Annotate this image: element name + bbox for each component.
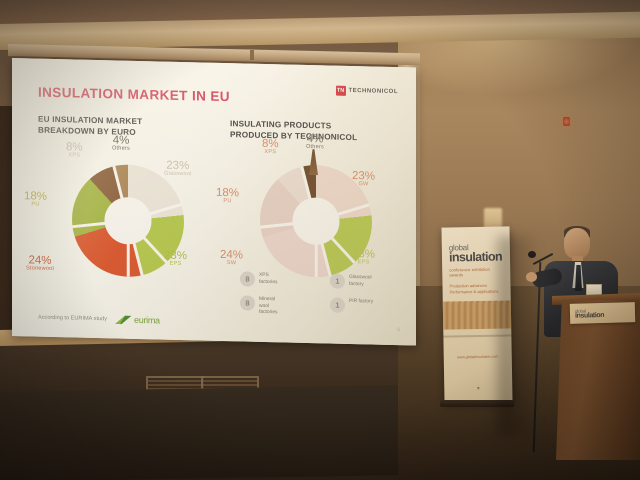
badge-row: 8 Mineralwoolfactories 1 PIR factory [240, 295, 408, 320]
chart-label-stonewool: 24% Stonewool [26, 254, 54, 273]
projection-screen: INSULATION MARKET IN EU TN TECHNONICOL E… [12, 58, 416, 346]
chart-label-eps: 23% EPS [164, 250, 187, 268]
chart-label-eps: 23% EPS [352, 248, 375, 266]
eurima-wordmark: eurima [134, 315, 160, 326]
chart-label-pu: 18% PU [24, 190, 47, 208]
exploded-others-slice [309, 149, 318, 175]
badge-label: XPSfactories [259, 272, 277, 287]
chart-label-xps: 8% XPS [66, 141, 83, 159]
slice-gap [127, 221, 130, 277]
technonicol-wordmark: TECHNONICOL [349, 88, 399, 95]
source-note: According to EURIMA study [38, 315, 107, 323]
slice-gap [113, 166, 129, 221]
factory-count-badges: 8 XPSfactories 1 Glasswoolfactory 8 Mine… [240, 271, 408, 329]
badge-row: 8 XPSfactories 1 Glasswoolfactory [240, 271, 408, 290]
slide-footer: According to EURIMA study eurima [38, 313, 160, 326]
chart-label-sw: 24% SW [220, 249, 243, 267]
slice-gap [316, 204, 370, 222]
slide-page-number: 5 [397, 327, 400, 333]
red-indicator-light [563, 117, 570, 126]
slice-gap [72, 219, 128, 227]
chart-label-others: 4% Others [112, 134, 130, 152]
slide-title: INSULATION MARKET IN EU [38, 85, 230, 105]
wooden-podium [556, 300, 640, 460]
screen-roller-cord [250, 50, 254, 60]
rollup-tagline: conference exhibition awards [449, 267, 503, 278]
slice-gap [315, 221, 318, 277]
slice-gap [128, 203, 182, 221]
chart-label-others: 4% Others [306, 133, 324, 151]
speaker-head [564, 228, 590, 259]
badge-count: 1 [330, 273, 345, 288]
technonicol-mark-icon: TN [336, 86, 346, 96]
badge-glasswool-factory: 1 Glasswoolfactory [330, 273, 406, 290]
chart-label-pu: 18% PU [216, 187, 239, 205]
badge-mineral-wool-factories: 8 Mineralwoolfactories [240, 295, 316, 318]
chart-label-gw: 23% GW [352, 170, 375, 188]
floor-shadow-band [0, 384, 440, 480]
presentation-slide: INSULATION MARKET IN EU TN TECHNONICOL E… [12, 58, 416, 346]
slice-gap [315, 220, 355, 263]
wall-uplight-glow [398, 36, 640, 96]
eurima-mark-icon [115, 315, 132, 324]
slice-gap [260, 220, 316, 228]
speaker-hand [526, 272, 537, 282]
badge-count: 8 [240, 271, 255, 286]
badge-pir-factory: 1 PIR factory [330, 297, 406, 320]
conference-room-photo: INSULATION MARKET IN EU TN TECHNONICOL E… [0, 0, 640, 480]
badge-xps-factories: 8 XPSfactories [240, 271, 316, 288]
badge-label: Glasswoolfactory [349, 274, 372, 289]
eurima-logo: eurima [115, 314, 160, 325]
badge-label: PIR factory [349, 298, 373, 306]
badge-count: 8 [240, 295, 255, 310]
eu-market-donut-chart: 23% Glasswool 23% EPS 24% Stonewool 18% … [72, 163, 184, 278]
podium-sign: global insulation [570, 302, 636, 324]
podium-sign-line2: insulation [575, 311, 635, 320]
right-panel-heading: INSULATING PRODUCTSPRODUCED BY TECHNONIC… [230, 118, 357, 143]
badge-count: 1 [330, 297, 345, 312]
rollup-subtext: Production advancesPerformance & applica… [449, 283, 503, 296]
badge-label: Mineralwoolfactories [259, 296, 277, 317]
technonicol-logo: TN TECHNONICOL [336, 86, 399, 97]
slice-gap [127, 220, 167, 263]
podium-base [546, 450, 640, 468]
rollup-line2: insulation [449, 250, 503, 265]
microphone-head [528, 251, 536, 258]
chart-label-glasswool: 23% Glasswool [164, 160, 192, 179]
technonicol-products-donut-chart: 23% GW 23% EPS 24% SW 18% PU 8% XPS [260, 164, 372, 279]
chart-label-xps: 8% XPS [262, 138, 279, 156]
